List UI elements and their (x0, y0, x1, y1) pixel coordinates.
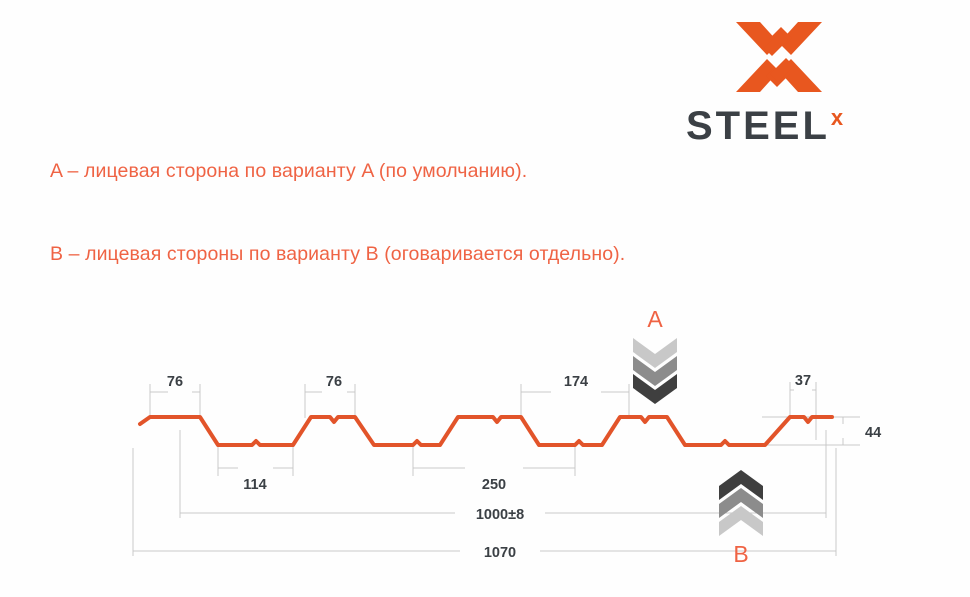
profile-technical-drawing: 76 76 174 37 114 250 1000±8 1070 44 (0, 0, 970, 597)
dim-label-crest-width-left: 76 (167, 374, 183, 390)
dim-label-wave-pitch: 250 (482, 477, 506, 493)
dim-label-trough-width: 114 (243, 477, 266, 493)
marker-variant-a: A (627, 308, 683, 408)
dim-label-crest-width-mid: 76 (326, 374, 342, 390)
marker-a-letter: A (627, 308, 683, 331)
chevron-down-icon (627, 338, 683, 404)
chevron-up-icon (713, 470, 769, 536)
dim-label-edge-crest-width: 37 (795, 373, 811, 389)
dim-label-rib-pitch: 174 (564, 374, 588, 390)
dim-label-total-width: 1070 (484, 545, 516, 561)
dim-label-profile-height: 44 (865, 425, 881, 441)
dimension-labels: 76 76 174 37 114 250 1000±8 1070 44 (167, 373, 881, 561)
marker-b-letter: B (713, 543, 769, 566)
sheet-profile-outline (140, 417, 832, 445)
dim-label-working-width: 1000±8 (476, 507, 524, 523)
marker-variant-b: B (713, 468, 769, 564)
